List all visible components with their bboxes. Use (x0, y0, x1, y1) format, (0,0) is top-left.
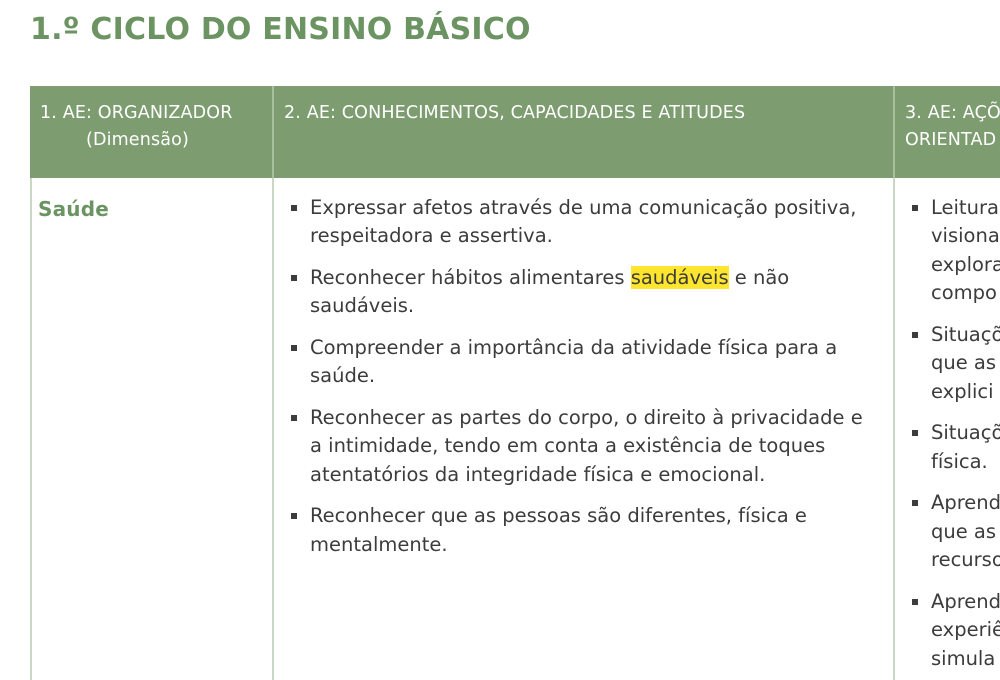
acoes-list: LeituravisionaexploracompoSituaçõque ase… (909, 194, 1000, 673)
list-item-text: Expressar afetos através de uma comunica… (310, 196, 856, 247)
cell-organizador: Saúde (32, 178, 272, 680)
table-header-row: 1. AE: ORGANIZADOR (Dimensão) 2. AE: CON… (30, 86, 1000, 178)
list-item: Compreender a importância da atividade f… (288, 334, 875, 391)
list-item-line: Situaçõ (931, 321, 1000, 349)
list-item-line: explora (931, 251, 1000, 279)
column-header-organizador-line2: (Dimensão) (40, 127, 258, 154)
cell-conhecimentos: Expressar afetos através de uma comunica… (272, 178, 893, 680)
column-header-conhecimentos-line1: 2. AE: CONHECIMENTOS, CAPACIDADES E ATIT… (284, 103, 745, 123)
table-body-row: Saúde Expressar afetos através de uma co… (30, 178, 1000, 680)
list-item: Reconhecer hábitos alimentares saudáveis… (288, 264, 875, 321)
cell-acoes: LeituravisionaexploracompoSituaçõque ase… (893, 178, 1000, 680)
list-item-text: Reconhecer as partes do corpo, o direito… (310, 406, 863, 486)
dimension-label-saude: Saúde (38, 197, 262, 221)
list-item-line: explici (931, 378, 1000, 406)
list-item-line: compo (931, 279, 1000, 307)
slide-page: 1.º CICLO DO ENSINO BÁSICO 1. AE: ORGANI… (0, 0, 1000, 680)
list-item-text: Compreender a importância da atividade f… (310, 336, 837, 387)
list-item-text: Reconhecer que as pessoas são diferentes… (310, 504, 807, 555)
list-item-line: visiona (931, 222, 1000, 250)
list-item: Reconhecer as partes do corpo, o direito… (288, 404, 875, 489)
column-header-organizador: 1. AE: ORGANIZADOR (Dimensão) (30, 86, 272, 178)
list-item-line: que as (931, 518, 1000, 546)
list-item-line: experiê (931, 616, 1000, 644)
list-item: Aprendque asrecurso (909, 489, 1000, 574)
list-item: Aprendexperiêsimula (909, 588, 1000, 673)
page-title: 1.º CICLO DO ENSINO BÁSICO (30, 12, 531, 47)
list-item-line: que as (931, 349, 1000, 377)
list-item-line: recurso (931, 546, 1000, 574)
list-item-line: física. (931, 448, 1000, 476)
list-item-line: Situaçõ (931, 419, 1000, 447)
list-item: Leituravisionaexploracompo (909, 194, 1000, 308)
list-item: Reconhecer que as pessoas são diferentes… (288, 502, 875, 559)
list-item-text: Reconhecer hábitos alimentares (310, 266, 631, 289)
list-item-line: Aprend (931, 588, 1000, 616)
learning-objectives-table: 1. AE: ORGANIZADOR (Dimensão) 2. AE: CON… (30, 86, 1000, 680)
column-header-conhecimentos: 2. AE: CONHECIMENTOS, CAPACIDADES E ATIT… (272, 86, 893, 178)
column-header-acoes-line2: ORIENTAD (905, 127, 1000, 154)
column-header-acoes-line1: 3. AE: AÇÕ (905, 103, 1000, 123)
list-item: Expressar afetos através de uma comunica… (288, 194, 875, 251)
column-header-organizador-line1: 1. AE: ORGANIZADOR (40, 103, 233, 123)
conhecimentos-list: Expressar afetos através de uma comunica… (288, 194, 875, 559)
list-item-line: Leitura (931, 194, 1000, 222)
list-item-line: Aprend (931, 489, 1000, 517)
column-header-acoes: 3. AE: AÇÕ ORIENTAD (893, 86, 1000, 178)
list-item: Situaçõfísica. (909, 419, 1000, 476)
list-item: Situaçõque asexplici (909, 321, 1000, 406)
highlighted-text: saudáveis (631, 266, 729, 289)
list-item-line: simula (931, 645, 1000, 673)
